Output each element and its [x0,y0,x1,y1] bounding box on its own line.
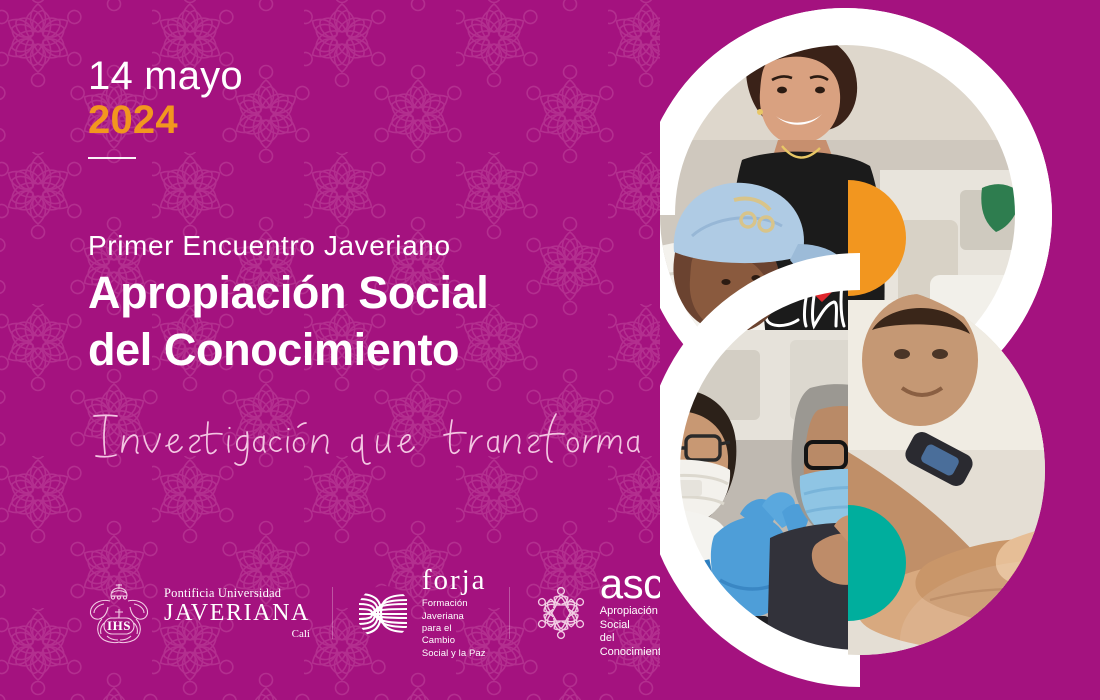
title-headline-line1: Apropiación Social [88,268,488,318]
forja-sub-line2: para el Cambio [422,623,487,648]
logo-forja: forja Formación Javeriana para el Cambio… [355,566,487,660]
date-underline-rule [88,157,136,159]
ihs-crest-icon: IHS [84,579,154,647]
logo-divider-1 [332,587,333,639]
title-eyebrow: Primer Encuentro Javeriano [88,230,488,262]
photo-collage [660,0,1100,700]
javeriana-line1: Pontificia Universidad [164,587,310,601]
forja-sub-line1: Formación Javeriana [422,598,487,623]
asc-sub-line2: del Conocimiento [600,632,667,660]
asc-sub-line1: Apropiación Social [600,605,667,633]
javeriana-line2: JAVERIANA [164,601,310,626]
title-headline-line2: del Conocimiento [88,325,488,375]
forja-sphere-icon [355,584,413,642]
forja-sub-line3: Social y la Paz [422,648,487,660]
poster-text-column: 14 mayo 2024 Primer Encuentro Javeriano … [0,0,660,700]
event-date: 14 mayo 2024 [88,55,243,159]
date-day: 14 mayo [88,55,243,97]
svg-text:IHS: IHS [107,618,131,633]
date-year: 2024 [88,99,243,141]
javeriana-line3: Cali [164,628,310,640]
forja-wordmark: forja Formación Javeriana para el Cambio… [422,566,487,660]
event-title: Primer Encuentro Javeriano Apropiación S… [88,230,488,375]
javeriana-wordmark: Pontificia Universidad JAVERIANA Cali [164,587,310,640]
poster-canvas: 14 mayo 2024 Primer Encuentro Javeriano … [0,0,1100,700]
logo-divider-2 [509,587,510,639]
asc-word: asc [600,566,667,602]
forja-word: forja [422,566,487,595]
logo-javeriana: IHS Pontificia Universidad JAVERIANA Cal… [84,579,310,647]
asc-wordmark: asc Apropiación Social del Conocimiento [600,566,667,660]
asc-mandala-icon [532,584,590,642]
logo-asc: asc Apropiación Social del Conocimiento [532,566,667,660]
logo-row: IHS Pontificia Universidad JAVERIANA Cal… [84,566,667,660]
event-tagline [88,408,608,466]
